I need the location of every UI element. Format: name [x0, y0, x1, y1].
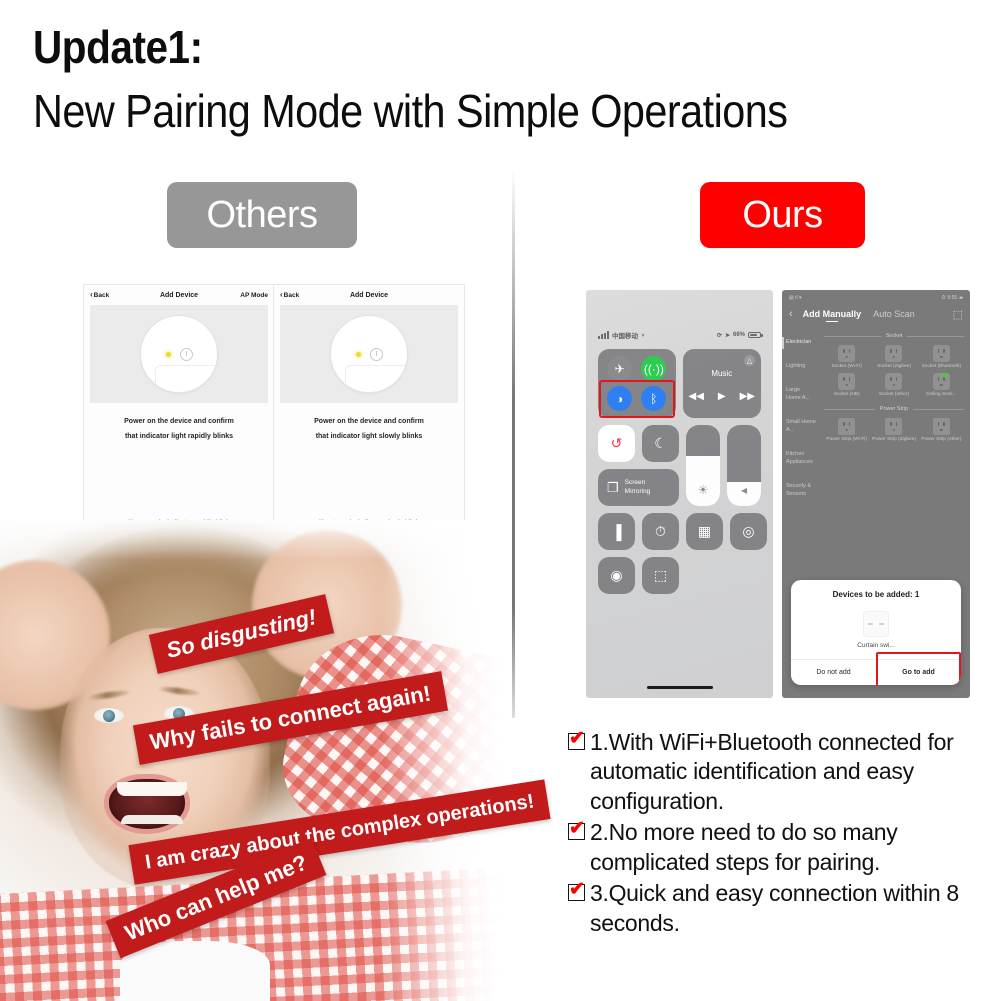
screen-mirroring-line-2: Mirroring [625, 488, 651, 496]
badge-others: Others [167, 182, 357, 248]
divider-left [824, 409, 875, 410]
column-divider [512, 168, 515, 718]
back-icon[interactable]: ‹ [789, 308, 793, 320]
tuya-add-device-screenshot: ▤ ıl ▾ ⏱ 9:55 ▰ ‹ Add Manually Auto Scan… [782, 290, 970, 698]
device-label: Ceiling Sock... [926, 392, 957, 398]
navbar-title: Add Device [274, 292, 464, 299]
device-item[interactable]: Socket (Bluetooth) [919, 345, 964, 370]
location-arrow-icon: ➤ [725, 332, 730, 339]
do-not-disturb-tile[interactable]: ☾ [642, 425, 679, 462]
status-bar: 中国移动 ◗ ⟳ ➤ 66% [598, 328, 761, 342]
frustrated-user-photo [0, 520, 500, 1001]
signal-icons: ▤ ıl ▾ [789, 295, 802, 301]
socket-grid: Socket (Wi-Fi) Socket (Zigbee) Socket (B… [824, 345, 964, 398]
camera-tile[interactable]: ◎ [730, 513, 767, 550]
feature-list: ✔ 1.With WiFi+Bluetooth connected for au… [568, 728, 996, 940]
cellular-data-icon[interactable]: ((·)) [641, 356, 666, 381]
sidebar-item-kitchen-appliances[interactable]: Kitchen Appliances [782, 443, 820, 475]
sidebar-item-small-home-appliances[interactable]: Small Home A... [782, 411, 820, 443]
badge-ours: Ours [700, 182, 865, 248]
time-label: 9:55 [947, 295, 957, 301]
checkbox-checked-icon: ✔ [568, 823, 585, 840]
socket-icon [933, 345, 950, 362]
checkbox-checked-icon: ✔ [568, 733, 585, 750]
status-bar: ▤ ıl ▾ ⏱ 9:55 ▰ [782, 290, 970, 303]
divider-right [907, 336, 964, 337]
power-strip-grid: Power Strip (Wi-Fi) Power Strip (Zigbee)… [824, 418, 964, 443]
indicator-led-icon [356, 352, 361, 357]
power-button-icon [180, 348, 193, 361]
airplay-icon[interactable]: △ [744, 355, 755, 366]
device-label: Socket (NB) [834, 392, 860, 398]
device-illustration [90, 305, 268, 403]
brightness-icon: ☀ [698, 483, 709, 497]
indicator-led-icon [166, 352, 171, 357]
white-undershirt [120, 941, 270, 1001]
status-right-group: ⟳ ➤ 66% [717, 332, 761, 339]
device-label: Socket (Bluetooth) [922, 364, 961, 370]
feature-text: 2.No more need to do so many complicated… [590, 818, 996, 877]
divider-left [824, 336, 881, 337]
tab-add-manually[interactable]: Add Manually [803, 309, 862, 319]
device-item[interactable]: Ceiling Sock... [919, 373, 964, 398]
device-label: Power Strip (Wi-Fi) [826, 437, 867, 443]
qr-scan-tile[interactable]: ⬚ [642, 557, 679, 594]
battery-icon [748, 332, 761, 339]
device-shade [345, 365, 408, 383]
music-widget[interactable]: △ Music ◀◀ ▶ ▶▶ [683, 349, 761, 418]
instruction-line-1: Power on the device and confirm [274, 415, 464, 430]
music-label: Music [711, 369, 732, 378]
ios-control-center-screenshot: 中国移动 ◗ ⟳ ➤ 66% ✈ ((·)) ◑ ᛒ △ Music ◀◀ [586, 290, 773, 698]
device-label: Power Strip (Zigbee) [872, 437, 916, 443]
device-item[interactable]: Power Strip (Wi-Fi) [824, 418, 869, 443]
sidebar-item-security-sensors[interactable]: Security & Sensors [782, 475, 820, 507]
category-sidebar: Electrician Lighting Large Home A... Sma… [782, 325, 820, 531]
dialog-device: Curtain swi... [791, 599, 961, 659]
feature-text: 3.Quick and easy connection within 8 sec… [590, 879, 996, 938]
device-label: Socket (Zigbee) [877, 364, 911, 370]
home-indicator [647, 686, 713, 689]
list-item: ✔ 1.With WiFi+Bluetooth connected for au… [568, 728, 996, 816]
wifi-status-icon: ◗ [641, 332, 645, 339]
section-title: Power Strip [880, 406, 908, 412]
airplane-mode-icon[interactable]: ✈ [607, 356, 632, 381]
socket-icon [933, 373, 950, 390]
rotation-lock-status-icon: ⟳ [717, 332, 722, 339]
device-item[interactable]: Power Strip (other) [919, 418, 964, 443]
back-label: Back [94, 292, 110, 299]
status-right-group: ⏱ 9:55 ▰ [942, 295, 964, 301]
device-item[interactable]: Socket (Wi-Fi) [824, 345, 869, 370]
power-strip-icon [885, 418, 902, 435]
power-button-icon [370, 348, 383, 361]
signal-bars-icon [598, 331, 609, 339]
device-icon [140, 315, 218, 393]
instruction-line-2: that indicator light slowly blinks [274, 430, 464, 445]
instruction-line-2: that indicator light rapidly blinks [84, 430, 274, 445]
screen-record-tile[interactable]: ◉ [598, 557, 635, 594]
sidebar-item-lighting[interactable]: Lighting [782, 355, 820, 379]
dialog-actions: Do not add Go to add [791, 659, 961, 685]
device-label: Socket (other) [879, 392, 909, 398]
checkbox-checked-icon: ✔ [568, 884, 585, 901]
device-label: Power Strip (other) [921, 437, 961, 443]
tuya-body: Electrician Lighting Large Home A... Sma… [782, 325, 970, 531]
instruction-text: Power on the device and confirm that ind… [274, 415, 464, 444]
list-item: ✔ 2.No more need to do so many complicat… [568, 818, 996, 877]
photo-fade-right [380, 520, 500, 1001]
teeth-lower [121, 815, 183, 824]
alarm-icon: ⏱ [942, 295, 946, 301]
control-center-mid-grid: ↺ ☾ ☀ ◂ ❐ Screen Mirroring [598, 425, 761, 506]
device-item[interactable]: Power Strip (Zigbee) [871, 418, 916, 443]
ap-mode-button[interactable]: AP Mode [240, 292, 268, 299]
connectivity-card: ✈ ((·)) ◑ ᛒ [598, 349, 676, 418]
feature-text: 1.With WiFi+Bluetooth connected for auto… [590, 728, 996, 816]
device-catalog: Socket Socket (Wi-Fi) Socket (Zigbee) So… [820, 325, 970, 531]
mouth [104, 774, 190, 834]
tab-auto-scan[interactable]: Auto Scan [873, 309, 915, 319]
list-item: ✔ 3.Quick and easy connection within 8 s… [568, 879, 996, 938]
app-navbar: ‹ Back Add Device [274, 285, 464, 305]
chevron-left-icon: ‹ [90, 291, 93, 299]
flashlight-tile[interactable]: ▐ [598, 513, 635, 550]
previous-track-icon[interactable]: ◀◀ [689, 391, 704, 402]
timer-tile[interactable]: ⏱ [642, 513, 679, 550]
device-shade [155, 365, 218, 383]
chevron-left-icon: ‹ [280, 291, 283, 299]
device-label: Socket (Wi-Fi) [831, 364, 861, 370]
play-icon[interactable]: ▶ [718, 391, 726, 402]
socket-icon [838, 345, 855, 362]
next-track-icon[interactable]: ▶▶ [740, 391, 755, 402]
rotation-lock-tile[interactable]: ↺ [598, 425, 635, 462]
battery-percent-label: 66% [733, 332, 745, 338]
brightness-slider[interactable]: ☀ [686, 425, 720, 506]
go-to-add-highlight [876, 652, 961, 685]
device-illustration [280, 305, 458, 403]
screen-mirroring-tile[interactable]: ❐ Screen Mirroring [598, 469, 679, 506]
screen-mirroring-line-1: Screen [625, 479, 651, 487]
battery-icon: ▰ [959, 295, 963, 301]
device-icon [330, 315, 408, 393]
back-button[interactable]: ‹ Back [90, 291, 109, 299]
control-center-row-3: ▐ ⏱ ▦ ◎ [598, 513, 761, 550]
back-label: Back [284, 292, 300, 299]
screen-mirroring-label: Screen Mirroring [625, 479, 651, 495]
scan-icon[interactable]: ⬚ [953, 308, 963, 321]
do-not-add-button[interactable]: Do not add [791, 660, 876, 685]
carrier-label: 中国移动 [612, 330, 638, 340]
instruction-line-1: Power on the device and confirm [84, 415, 274, 430]
teeth-upper [117, 782, 187, 796]
dialog-title: Devices to be added: 1 [791, 580, 961, 599]
socket-icon [885, 373, 902, 390]
control-center-row-4: ◉ ⬚ [598, 557, 761, 594]
screen-mirroring-icon: ❐ [607, 480, 619, 496]
devices-to-add-dialog: Devices to be added: 1 Curtain swi... Do… [791, 580, 961, 685]
calculator-tile[interactable]: ▦ [686, 513, 723, 550]
section-header-power-strip: Power Strip [824, 406, 964, 412]
page-title: Update1: [33, 20, 203, 74]
wifi-bluetooth-highlight [599, 380, 675, 418]
section-header-socket: Socket [824, 333, 964, 339]
divider-right [913, 409, 964, 410]
sidebar-item-electrician[interactable]: Electrician [782, 331, 820, 355]
power-strip-icon [838, 418, 855, 435]
section-title: Socket [886, 333, 903, 339]
control-center-top-grid: ✈ ((·)) ◑ ᛒ △ Music ◀◀ ▶ ▶▶ [598, 349, 761, 418]
socket-icon [838, 373, 855, 390]
device-item[interactable]: Socket (other) [871, 373, 916, 398]
device-name-label: Curtain swi... [857, 642, 895, 649]
back-button[interactable]: ‹ Back [280, 291, 299, 299]
photo-fade-top [0, 520, 500, 560]
page-subtitle: New Pairing Mode with Simple Operations [33, 84, 787, 138]
device-item[interactable]: Socket (NB) [824, 373, 869, 398]
volume-slider[interactable]: ◂ [727, 425, 761, 506]
tuya-header: ‹ Add Manually Auto Scan ⬚ [782, 303, 970, 325]
app-navbar: ‹ Back Add Device AP Mode [84, 285, 274, 305]
instruction-text: Power on the device and confirm that ind… [84, 415, 274, 444]
power-strip-icon [933, 418, 950, 435]
sidebar-item-large-home-appliances[interactable]: Large Home A... [782, 379, 820, 411]
music-controls: ◀◀ ▶ ▶▶ [689, 391, 755, 402]
curtain-switch-icon [863, 611, 889, 637]
device-item[interactable]: Socket (Zigbee) [871, 345, 916, 370]
volume-icon: ◂ [741, 483, 747, 497]
socket-icon [885, 345, 902, 362]
poster-root: Update1: New Pairing Mode with Simple Op… [0, 0, 1001, 1001]
eye-left [94, 708, 124, 723]
